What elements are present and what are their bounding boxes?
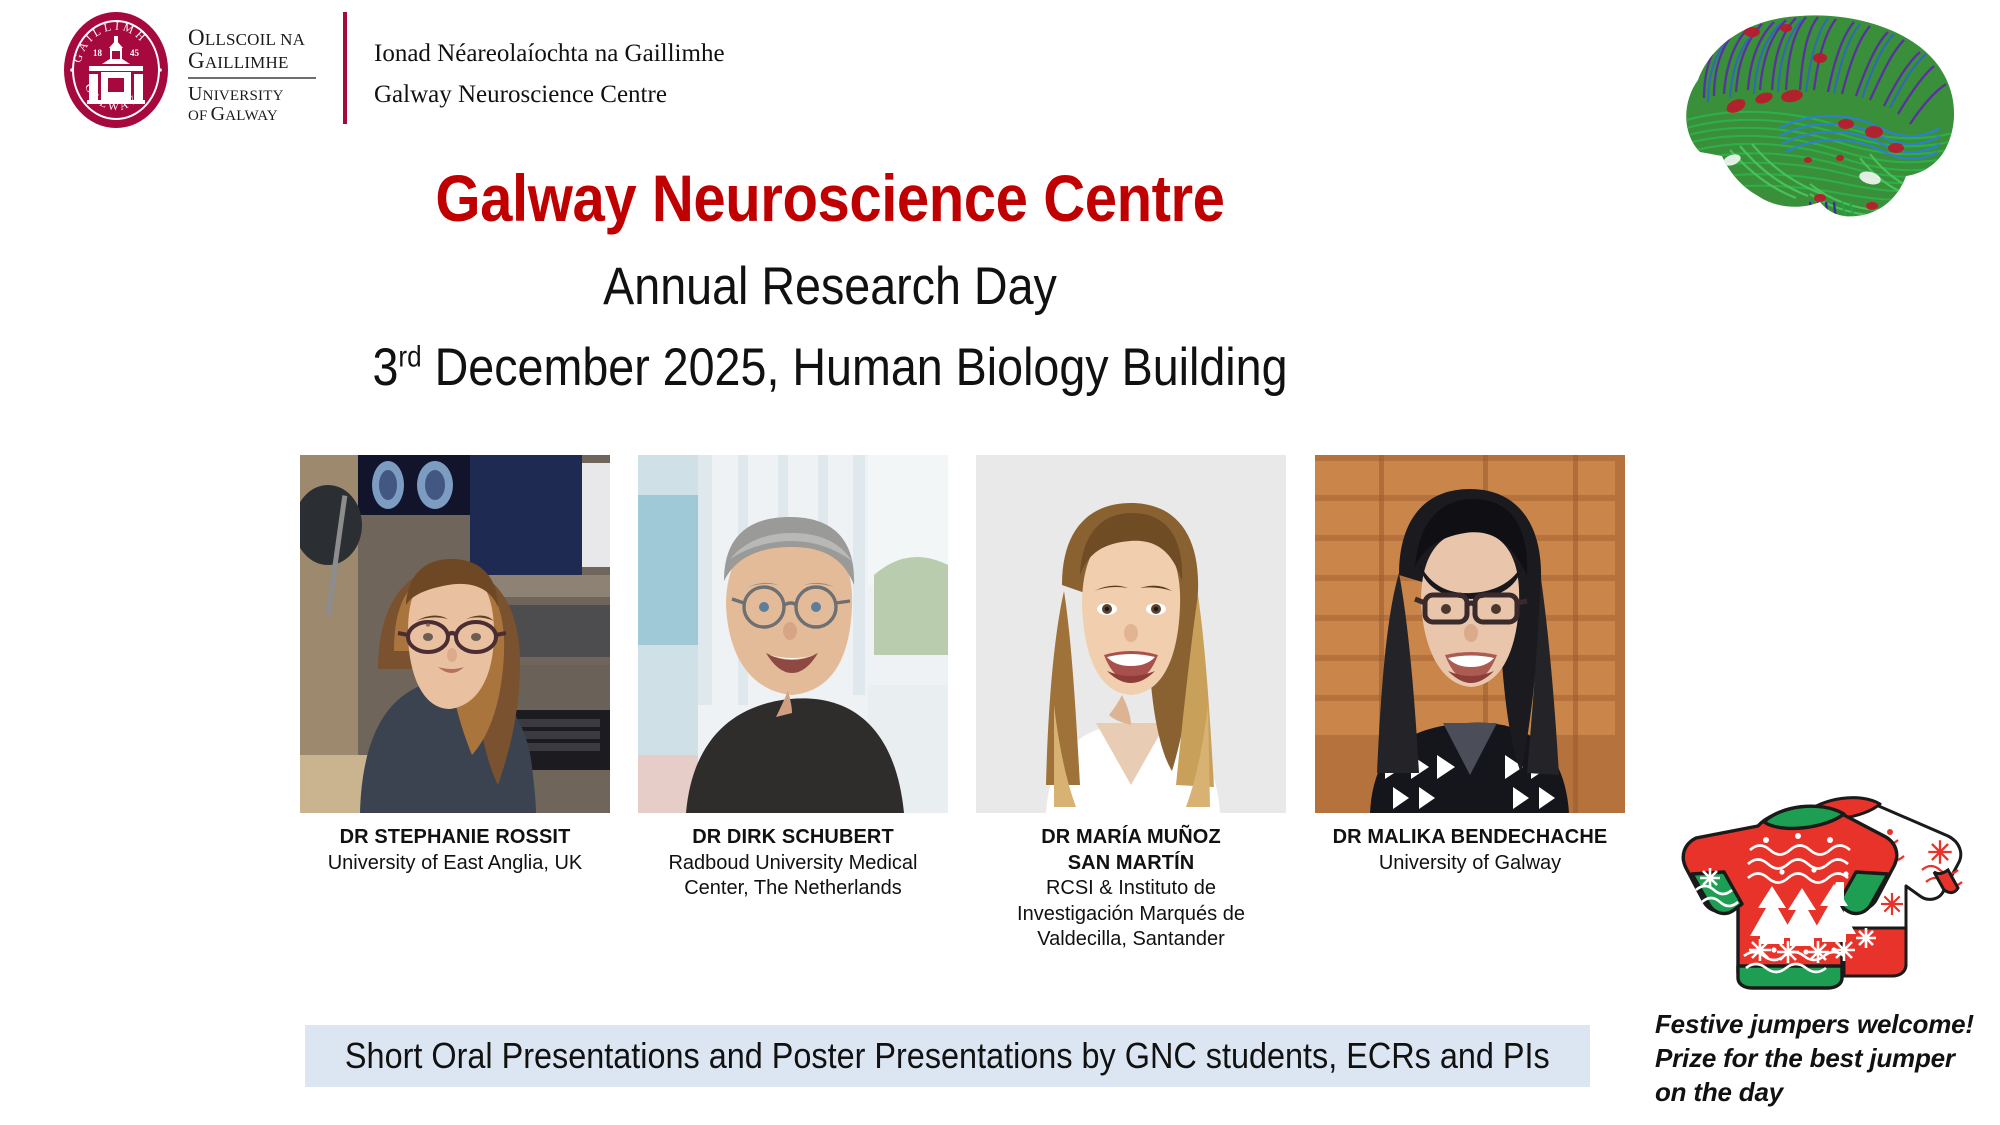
dti-tractography-brain-image <box>1660 2 1990 252</box>
speaker-card: DR MALIKA BENDECHACHE University of Galw… <box>1315 455 1625 876</box>
speaker-affiliation-line: University of Galway <box>1315 851 1625 877</box>
speaker-caption: DR MARÍA MUÑOZ SAN MARTÍN RCSI & Institu… <box>976 825 1286 953</box>
centre-name-block: Ionad Néareolaíochta na Gaillimhe Galway… <box>374 34 725 115</box>
speaker-name: DR MALIKA BENDECHACHE <box>1315 825 1625 851</box>
speaker-caption: DR DIRK SCHUBERT Radboud University Medi… <box>638 825 948 902</box>
wordmark-na: NA <box>280 30 305 49</box>
wordmark-galway-rest: ALWAY <box>225 108 278 124</box>
festive-jumper-note: Festive jumpers welcome! Prize for the b… <box>1655 1008 2000 1109</box>
speaker-affiliation-line: Radboud University Medical <box>638 851 948 877</box>
speaker-affiliation-line: Investigación Marqués de <box>976 902 1286 928</box>
portrait-malika-bendechache <box>1315 455 1625 813</box>
festive-line-2: Prize for the best jumper <box>1655 1042 2000 1076</box>
wordmark-university-cap: U <box>188 83 203 105</box>
wordmark-ollscoil-cap: O <box>188 25 205 50</box>
date-day: 3 <box>372 338 398 397</box>
date-rest: December 2025, Human Biology Building <box>422 338 1288 397</box>
page-title: Galway Neuroscience Centre <box>100 160 1561 236</box>
christmas-jumpers-icon <box>1648 778 1998 1008</box>
speaker-affiliation-line: RCSI & Instituto de <box>976 876 1286 902</box>
wordmark-divider <box>188 77 316 79</box>
speaker-card: DR DIRK SCHUBERT Radboud University Medi… <box>638 455 948 902</box>
speaker-name: DR DIRK SCHUBERT <box>638 825 948 851</box>
speaker-affiliation-line: Valdecilla, Santander <box>976 927 1286 953</box>
wordmark-ollscoil-rest: LLSCOIL <box>205 30 276 49</box>
date-ordinal: rd <box>398 340 421 373</box>
svg-text:18: 18 <box>93 48 103 58</box>
title-block: Galway Neuroscience Centre Annual Resear… <box>0 160 1660 398</box>
portrait-stephanie-rossit <box>300 455 610 813</box>
brand-header: GAILLIMH GALWAY 1 <box>0 0 880 136</box>
wordmark-university-rest: NIVERSITY <box>203 88 284 104</box>
festive-line-1: Festive jumpers welcome! <box>1655 1008 2000 1042</box>
portrait-maria-munoz-san-martin <box>976 455 1286 813</box>
speaker-card: DR STEPHANIE ROSSIT University of East A… <box>300 455 610 876</box>
speaker-affiliation-line: University of East Anglia, UK <box>300 851 610 877</box>
speaker-name: DR STEPHANIE ROSSIT <box>300 825 610 851</box>
speaker-name: DR MARÍA MUÑOZ <box>976 825 1286 851</box>
event-date-venue: 3rd December 2025, Human Biology Buildin… <box>100 337 1561 398</box>
speaker-caption: DR MALIKA BENDECHACHE University of Galw… <box>1315 825 1625 876</box>
speaker-affiliation-line: Center, The Netherlands <box>638 876 948 902</box>
speaker-card: DR MARÍA MUÑOZ SAN MARTÍN RCSI & Institu… <box>976 455 1286 953</box>
presentations-banner: Short Oral Presentations and Poster Pres… <box>305 1025 1590 1087</box>
presentations-banner-text: Short Oral Presentations and Poster Pres… <box>345 1035 1550 1077</box>
svg-text:45: 45 <box>130 48 140 58</box>
wordmark-gaillimhe-cap: G <box>188 48 205 73</box>
wordmark-galway-cap: G <box>211 103 226 125</box>
university-wordmark: OLLSCOILNA GAILLIMHE UNIVERSITY OFGALWAY <box>188 26 328 125</box>
centre-name-irish: Ionad Néareolaíochta na Gaillimhe <box>374 34 725 75</box>
header-divider-bar <box>343 12 347 124</box>
festive-line-3: on the day <box>1655 1076 2000 1110</box>
university-of-galway-crest-icon: GAILLIMH GALWAY 1 <box>56 10 176 130</box>
speaker-name-line2: SAN MARTÍN <box>976 851 1286 877</box>
wordmark-of: OF <box>188 108 208 124</box>
centre-name-english: Galway Neuroscience Centre <box>374 75 725 116</box>
portrait-dirk-schubert <box>638 455 948 813</box>
event-subtitle: Annual Research Day <box>100 256 1561 317</box>
wordmark-gaillimhe-rest: AILLIMHE <box>205 53 289 72</box>
speaker-caption: DR STEPHANIE ROSSIT University of East A… <box>300 825 610 876</box>
speakers-row: DR STEPHANIE ROSSIT University of East A… <box>300 455 1625 885</box>
